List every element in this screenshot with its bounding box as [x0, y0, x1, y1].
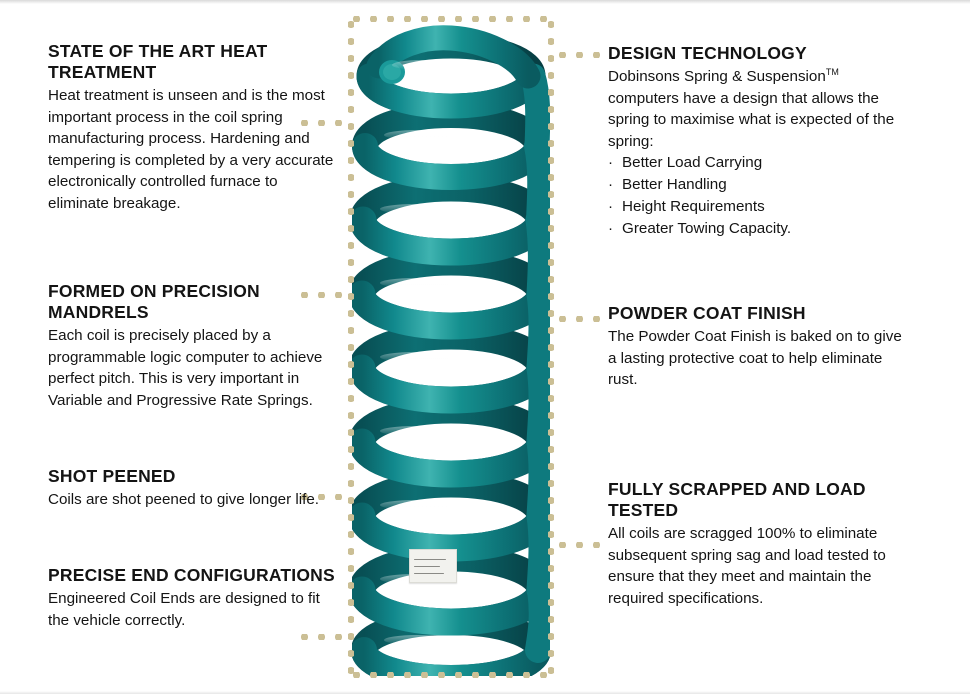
feature-formed-on-precision-mandrels: FORMED ON PRECISION MANDRELS Each coil i…	[48, 281, 340, 411]
feature-body-post: computers have a design that allows the …	[608, 90, 894, 150]
list-item: · Height Requirements	[608, 196, 912, 218]
trademark-symbol: TM	[826, 67, 839, 77]
feature-body-pre: Dobinsons Spring & Suspension	[608, 68, 826, 85]
list-item-label: Height Requirements	[622, 198, 765, 215]
list-item-label: Better Handling	[622, 176, 727, 193]
feature-body: Engineered Coil Ends are designed to fit…	[48, 588, 340, 631]
design-technology-benefit-list: · Better Load Carrying · Better Handling…	[608, 152, 912, 240]
feature-heading: POWDER COAT FINISH	[608, 303, 912, 324]
leader-precise-end-config	[296, 634, 352, 640]
feature-body: Dobinsons Spring & SuspensionTM computer…	[608, 66, 912, 152]
feature-body: The Powder Coat Finish is baked on to gi…	[608, 326, 912, 391]
feature-heading: PRECISE END CONFIGURATIONS	[48, 565, 340, 586]
feature-powder-coat-finish: POWDER COAT FINISH The Powder Coat Finis…	[608, 303, 912, 391]
coil-top-end	[379, 38, 528, 84]
top-edge-band	[0, 0, 970, 4]
feature-body: All coils are scragged 100% to eliminate…	[608, 523, 912, 609]
coil-risers	[533, 76, 542, 650]
feature-heading: FULLY SCRAPPED AND LOAD TESTED	[608, 479, 912, 521]
feature-heading: FORMED ON PRECISION MANDRELS	[48, 281, 340, 323]
feature-heading: STATE OF THE ART HEAT TREATMENT	[48, 41, 340, 83]
leader-design-technology	[554, 52, 606, 58]
feature-fully-scrapped-and-load-tested: FULLY SCRAPPED AND LOAD TESTED All coils…	[608, 479, 912, 609]
feature-precise-end-configurations: PRECISE END CONFIGURATIONS Engineered Co…	[48, 565, 340, 631]
feature-shot-peened: SHOT PEENED Coils are shot peened to giv…	[48, 466, 340, 511]
list-item: · Better Load Carrying	[608, 152, 912, 174]
list-item-label: Greater Towing Capacity.	[622, 220, 791, 237]
leader-powder-coat	[554, 316, 606, 322]
product-label-line-2	[414, 566, 440, 567]
feature-body: Coils are shot peened to give longer lif…	[48, 489, 340, 511]
product-label-line-1	[414, 559, 446, 560]
product-label-line-3	[414, 573, 444, 574]
feature-state-of-the-art-heat-treatment: STATE OF THE ART HEAT TREATMENT Heat tre…	[48, 41, 340, 214]
list-item: · Greater Towing Capacity.	[608, 218, 912, 240]
feature-body: Heat treatment is unseen and is the most…	[48, 85, 340, 214]
infographic-page: STATE OF THE ART HEAT TREATMENT Heat tre…	[0, 0, 970, 694]
feature-heading: SHOT PEENED	[48, 466, 340, 487]
list-item-label: Better Load Carrying	[622, 154, 762, 171]
bullet-marker-icon: ·	[608, 152, 613, 174]
leader-fully-scrapped	[554, 542, 606, 548]
feature-heading: DESIGN TECHNOLOGY	[608, 43, 912, 64]
coil-front-turns	[362, 76, 540, 676]
list-item: · Better Handling	[608, 174, 912, 196]
feature-body: Each coil is precisely placed by a progr…	[48, 325, 340, 411]
feature-design-technology: DESIGN TECHNOLOGY Dobinsons Spring & Sus…	[608, 43, 912, 240]
bullet-marker-icon: ·	[608, 218, 613, 240]
bullet-marker-icon: ·	[608, 174, 613, 196]
bullet-marker-icon: ·	[608, 196, 613, 218]
coil-spring-image	[352, 18, 550, 676]
